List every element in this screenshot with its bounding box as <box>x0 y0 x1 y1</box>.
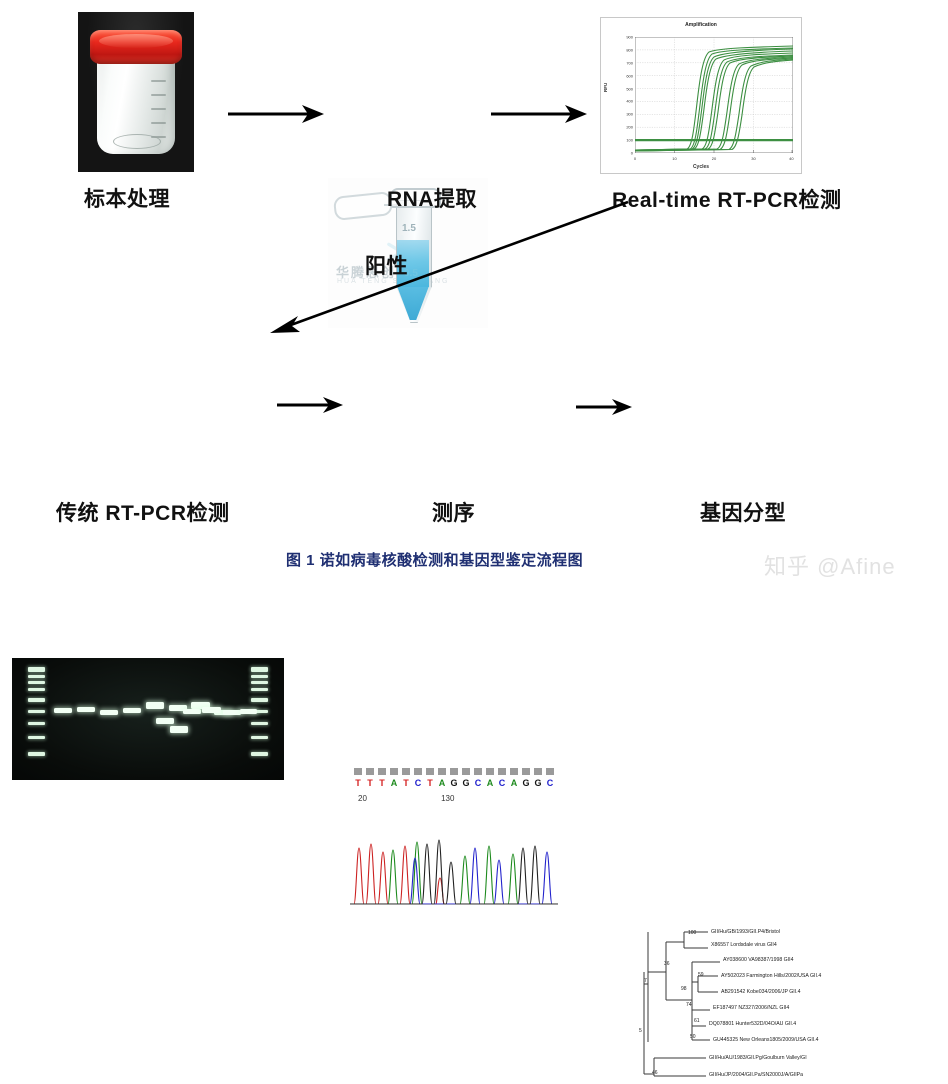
tree-bootstrap-values: 1003659987461507546 <box>636 924 942 1084</box>
chart-x-ticks: 0 10 20 30 40 <box>635 154 793 164</box>
label-realtime-rt-pcr: Real-time RT-PCR检测 <box>612 184 842 214</box>
chromatogram-position-labels: 20130 <box>350 794 558 806</box>
amplification-chart: Amplification RFU Cycles 0 100 200 300 4… <box>600 17 802 174</box>
tree-bootstrap-value: 59 <box>698 972 704 978</box>
base-call: T <box>427 778 433 788</box>
base-call: A <box>439 778 446 788</box>
tree-bootstrap-value: 5 <box>639 1028 642 1034</box>
arrow-rna-to-realtime <box>491 104 587 124</box>
arrow-sequencing-to-tree <box>576 398 632 416</box>
chart-plot-area <box>635 37 793 153</box>
base-call: G <box>450 778 457 788</box>
zhihu-watermark: 知乎 @Afine <box>764 549 896 581</box>
tree-bootstrap-value: 50 <box>690 1034 696 1040</box>
chart-x-axis-label: Cycles <box>601 164 801 170</box>
base-call: A <box>391 778 398 788</box>
position-label: 130 <box>441 794 454 803</box>
base-call: C <box>475 778 482 788</box>
tree-bootstrap-value: 36 <box>664 961 670 967</box>
chart-title: Amplification <box>601 22 801 28</box>
base-call: G <box>522 778 529 788</box>
base-call: T <box>367 778 373 788</box>
phylogenetic-tree: GII/Hu/GB/1993/GII.P4/BristolX86557 Lord… <box>636 924 942 1084</box>
base-call: A <box>487 778 494 788</box>
base-call: T <box>403 778 409 788</box>
label-positive: 阳性 <box>365 250 408 280</box>
position-label: 20 <box>358 794 367 803</box>
base-call: C <box>499 778 506 788</box>
tree-bootstrap-value: 7 <box>644 978 647 984</box>
chromatogram-base-calls: TTTATCTAGGCACAGGC <box>350 778 558 792</box>
tree-bootstrap-value: 74 <box>686 1002 692 1008</box>
figure-canvas: 标本处理 华腾思创生物 HUA TENG SI CHUANG 1.5 0.5 R… <box>0 0 948 597</box>
base-call: A <box>511 778 518 788</box>
arrow-gel-to-sequencing <box>277 396 343 414</box>
tree-bootstrap-value: 98 <box>681 986 687 992</box>
base-call: C <box>415 778 422 788</box>
label-genotyping: 基因分型 <box>700 497 786 527</box>
arrow-realtime-to-gel <box>262 198 628 338</box>
specimen-cup-red-cap <box>90 30 182 64</box>
gel-electrophoresis-image <box>12 658 284 780</box>
figure-caption: 图 1 诺如病毒核酸检测和基因型鉴定流程图 <box>286 549 583 570</box>
base-call: T <box>355 778 361 788</box>
tree-bootstrap-value: 61 <box>694 1018 700 1024</box>
base-call: G <box>534 778 541 788</box>
label-specimen-processing: 标本处理 <box>84 183 170 213</box>
chromatogram-trace <box>350 808 558 908</box>
chart-y-ticks: 0 100 200 300 400 500 600 700 800 900 <box>615 37 633 153</box>
chart-y-axis-label: RFU <box>603 83 608 92</box>
base-call: C <box>547 778 554 788</box>
tree-bootstrap-value: 46 <box>652 1070 658 1076</box>
label-conventional-rt-pcr: 传统 RT-PCR检测 <box>56 497 230 527</box>
base-call: G <box>462 778 469 788</box>
specimen-container-photo <box>78 12 194 172</box>
tree-bootstrap-value: 100 <box>688 930 696 936</box>
label-sequencing: 测序 <box>432 497 475 527</box>
sequencing-chromatogram: TTTATCTAGGCACAGGC 20130 <box>350 768 558 920</box>
specimen-cup-body <box>97 56 175 154</box>
base-call: T <box>379 778 385 788</box>
arrow-specimen-to-rna <box>228 104 324 124</box>
